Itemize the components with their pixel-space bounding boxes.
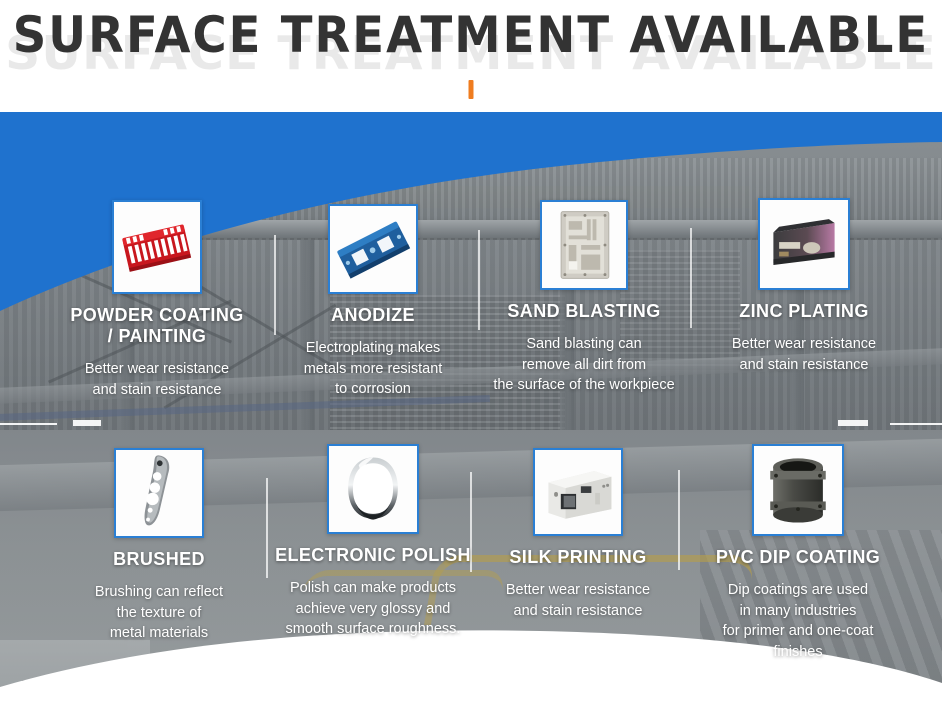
card-title: ELECTRONIC POLISH	[266, 545, 480, 566]
card-powder-coating-painting[interactable]: POWDER COATING / PAINTING Better wear re…	[42, 200, 272, 401]
title-accent-rule	[469, 80, 474, 99]
card-electronic-polish[interactable]: ELECTRONIC POLISH Polish can make produc…	[266, 444, 480, 640]
card-description: Better wear resistance and stain resista…	[692, 334, 916, 375]
thumb-zinc-plating	[758, 198, 850, 290]
card-title: ZINC PLATING	[692, 301, 916, 322]
zinc-plated-enclosure-icon	[760, 200, 848, 288]
red-slotted-panel-icon	[114, 202, 200, 292]
card-title: POWDER COATING / PAINTING	[42, 305, 272, 347]
thumb-silk-printing	[533, 448, 623, 536]
card-sand-blasting[interactable]: SAND BLASTING Sand blasting can remove a…	[478, 200, 690, 396]
brushed-metal-lever-icon	[116, 450, 202, 536]
card-anodize[interactable]: ANODIZE Electroplating makes metals more…	[278, 204, 468, 400]
card-silk-printing[interactable]: SILK PRINTING Better wear resistance and…	[478, 448, 678, 621]
surface-treatment-poster: POWDER COATING / PAINTING Better wear re…	[0, 0, 942, 715]
thumb-sand-blasting	[540, 200, 628, 290]
card-title: SILK PRINTING	[478, 547, 678, 568]
card-title: SAND BLASTING	[478, 301, 690, 322]
card-title: PVC DIP COATING	[680, 547, 916, 568]
card-pvc-dip-coating[interactable]: PVC DIP COATING Dip coatings are used in…	[680, 444, 916, 663]
white-chassis-enclosure-icon	[535, 450, 621, 534]
card-zinc-plating[interactable]: ZINC PLATING Better wear resistance and …	[692, 198, 916, 375]
thumb-electronic-polish	[327, 444, 419, 534]
card-title: BRUSHED	[48, 549, 270, 570]
thumb-powder-coating	[112, 200, 202, 294]
card-description: Electroplating makes metals more resista…	[278, 338, 468, 400]
polished-metal-ring-icon	[329, 446, 417, 532]
card-description: Better wear resistance and stain resista…	[42, 359, 272, 400]
machined-aluminium-plate-icon	[542, 202, 626, 288]
blue-anodized-bracket-icon	[330, 206, 416, 292]
card-description: Brushing can reflect the texture of meta…	[48, 582, 270, 644]
page-title: SURFACE TREATMENT AVAILABLE	[13, 6, 929, 64]
card-description: Dip coatings are used in many industries…	[680, 580, 916, 662]
thumb-pvc-dip-coating	[752, 444, 844, 536]
thumb-brushed	[114, 448, 204, 538]
card-brushed[interactable]: BRUSHED Brushing can reflect the texture…	[48, 448, 270, 644]
treatment-card-grid: POWDER COATING / PAINTING Better wear re…	[0, 100, 942, 715]
title-band: SURFACE TREATMENT AVAILABLE SURFACE TREA…	[0, 0, 942, 112]
card-title: ANODIZE	[278, 305, 468, 326]
card-description: Sand blasting can remove all dirt from t…	[478, 334, 690, 396]
card-description: Polish can make products achieve very gl…	[266, 578, 480, 640]
thumb-anodize	[328, 204, 418, 294]
black-dip-coated-flange-icon	[754, 446, 842, 534]
card-description: Better wear resistance and stain resista…	[478, 580, 678, 621]
